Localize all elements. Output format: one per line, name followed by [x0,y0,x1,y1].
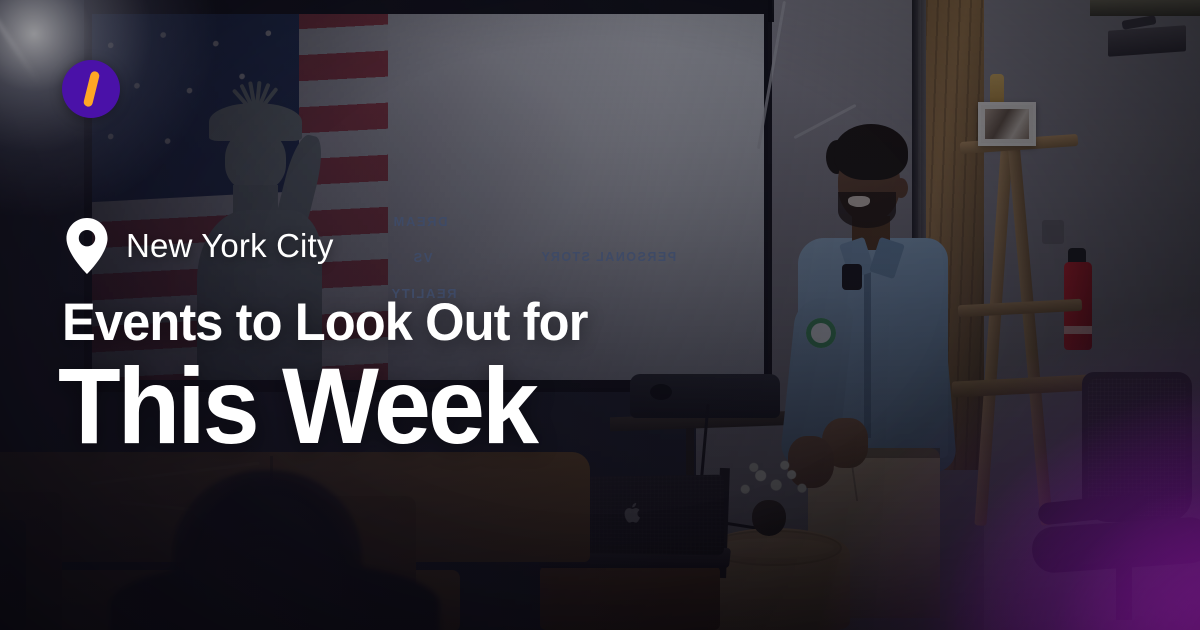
map-pin-icon [64,218,110,274]
banner-content: New York City Events to Look Out for Thi… [0,0,1200,630]
brand-logo[interactable] [62,60,120,118]
promo-banner: DREAM VS REALITY PERSONAL STORY [0,0,1200,630]
headline-line-2: This Week [58,352,536,460]
location-label: New York City [126,227,334,265]
slash-logo-icon [82,70,99,107]
location-row: New York City [64,218,334,274]
headline-line-1: Events to Look Out for [62,296,587,349]
